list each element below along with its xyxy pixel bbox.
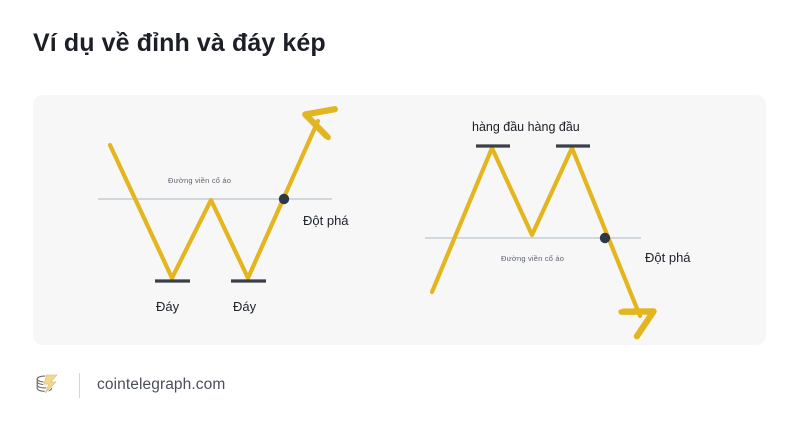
right-peaks-label: hàng đầu hàng đầu — [472, 120, 580, 134]
right-neckline-label: Đường viền cổ áo — [501, 254, 564, 263]
left-breakout-label: Đột phá — [303, 213, 349, 228]
footer-divider — [79, 373, 80, 398]
right-breakout-label: Đột phá — [645, 250, 691, 265]
cointelegraph-coin-stack-icon — [33, 371, 61, 399]
left-bottom-label-1: Đáy — [156, 299, 179, 314]
page-title: Ví dụ về đỉnh và đáy kép — [33, 26, 326, 60]
left-neckline-label: Đường viền cổ áo — [168, 176, 231, 185]
diagram-card — [33, 95, 766, 345]
footer-site-label: cointelegraph.com — [97, 376, 225, 394]
footer: cointelegraph.com — [33, 368, 225, 402]
left-bottom-label-2: Đáy — [233, 299, 256, 314]
